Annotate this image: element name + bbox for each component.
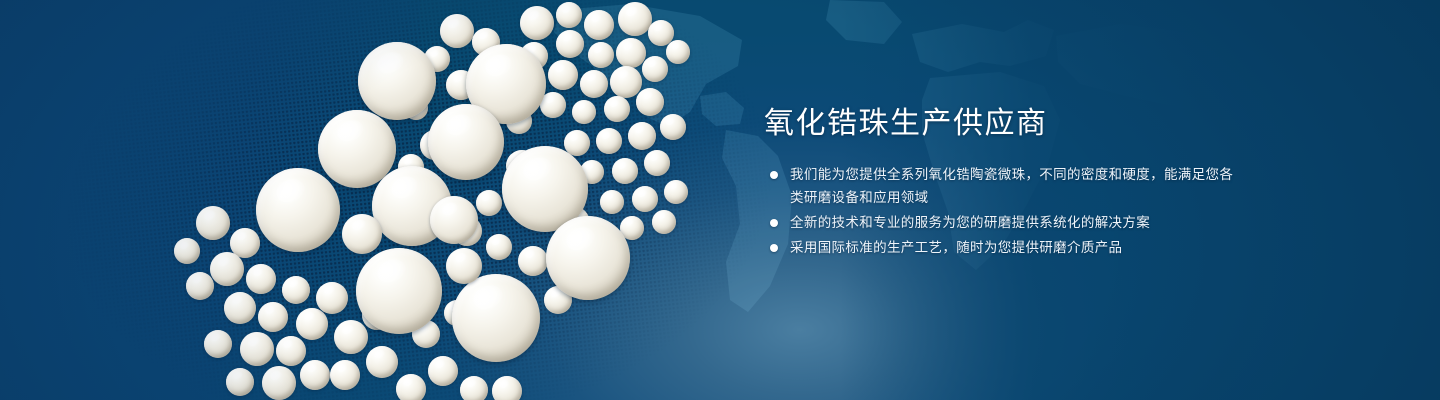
banner-bullet-item: 采用国际标准的生产工艺，随时为您提供研磨介质产品	[764, 236, 1234, 259]
banner-bullet-item: 我们能为您提供全系列氧化锆陶瓷微珠，不同的密度和硬度，能满足您各类研磨设备和应用…	[764, 163, 1234, 209]
banner-bullet-item: 全新的技术和专业的服务为您的研磨提供系统化的解决方案	[764, 211, 1234, 234]
banner-bullet-text: 全新的技术和专业的服务为您的研磨提供系统化的解决方案	[790, 215, 1150, 230]
banner-bullet-list: 我们能为您提供全系列氧化锆陶瓷微珠，不同的密度和硬度，能满足您各类研磨设备和应用…	[764, 163, 1234, 259]
banner-copy: 氧化锆珠生产供应商 我们能为您提供全系列氧化锆陶瓷微珠，不同的密度和硬度，能满足…	[764, 104, 1234, 261]
bullet-dot-icon	[770, 219, 778, 227]
banner-headline: 氧化锆珠生产供应商	[764, 104, 1234, 144]
hero-banner: 氧化锆珠生产供应商 我们能为您提供全系列氧化锆陶瓷微珠，不同的密度和硬度，能满足…	[0, 0, 1440, 400]
bullet-dot-icon	[770, 244, 778, 252]
banner-bullet-text: 采用国际标准的生产工艺，随时为您提供研磨介质产品	[790, 240, 1122, 255]
bullet-dot-icon	[770, 171, 778, 179]
banner-bullet-text: 我们能为您提供全系列氧化锆陶瓷微珠，不同的密度和硬度，能满足您各类研磨设备和应用…	[790, 167, 1233, 205]
